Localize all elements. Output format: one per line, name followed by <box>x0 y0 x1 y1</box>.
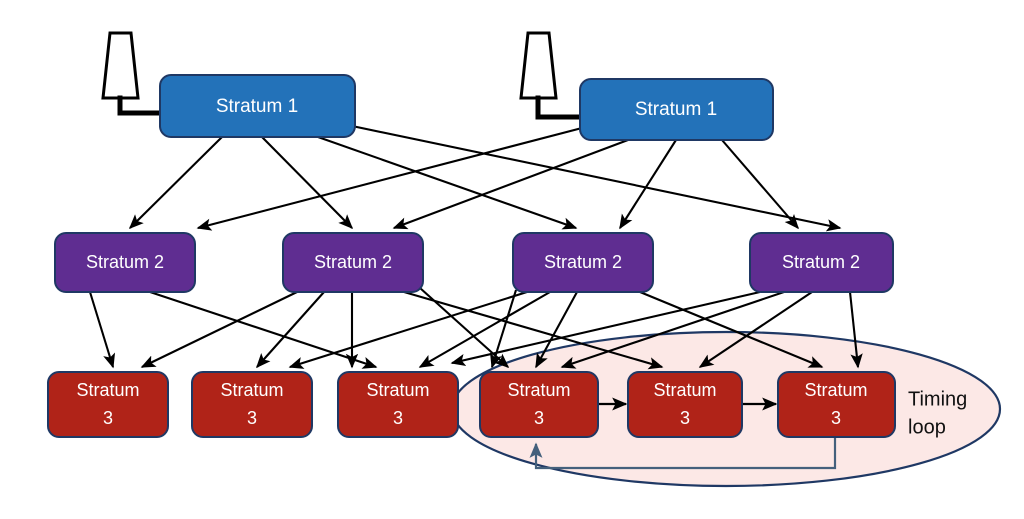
edge-s2b-s3a <box>142 292 297 367</box>
antenna-group-b <box>521 33 582 117</box>
node-stratum2-b[interactable]: Stratum 2 <box>283 233 423 292</box>
node-box[interactable] <box>750 233 893 292</box>
node-stratum3-a[interactable]: Stratum 3 <box>48 372 168 437</box>
node-box[interactable] <box>480 372 598 437</box>
antenna-feed-line <box>120 98 162 113</box>
edge-s2b-s3b <box>257 292 324 367</box>
node-box[interactable] <box>192 372 312 437</box>
node-box[interactable] <box>160 75 355 137</box>
edge-s1b-s2d <box>722 140 798 228</box>
node-stratum2-d[interactable]: Stratum 2 <box>750 233 893 292</box>
antenna-feed-line <box>538 98 582 117</box>
node-box[interactable] <box>628 372 742 437</box>
node-stratum3-d[interactable]: Stratum 3 <box>480 372 598 437</box>
edge-s2a-s3a <box>90 292 113 367</box>
edge-s2a-s3c <box>150 292 376 367</box>
antenna-icon <box>103 33 138 98</box>
edges-stratum1-to-stratum2 <box>130 126 840 228</box>
node-stratum3-f[interactable]: Stratum 3 <box>778 372 895 437</box>
node-box[interactable] <box>338 372 458 437</box>
edge-s1a-s2a <box>130 137 222 228</box>
edge-s1b-s2b <box>394 140 628 228</box>
node-box[interactable] <box>580 79 773 140</box>
timing-loop-label-line2: loop <box>908 416 946 438</box>
edge-s1a-s2d <box>352 126 840 228</box>
node-box[interactable] <box>55 233 195 292</box>
antenna-icon <box>521 33 556 98</box>
stratum-hierarchy-diagram: Stratum 1 Stratum 1 Stratum 2 Stratum 2 … <box>0 0 1024 519</box>
node-stratum2-a[interactable]: Stratum 2 <box>55 233 195 292</box>
edge-s1a-s2b <box>262 137 352 228</box>
diagram-canvas: Stratum 1 Stratum 1 Stratum 2 Stratum 2 … <box>0 0 1024 519</box>
node-stratum3-b[interactable]: Stratum 3 <box>192 372 312 437</box>
edge-s2c-s3b <box>290 292 527 367</box>
node-box[interactable] <box>778 372 895 437</box>
node-stratum1-a[interactable]: Stratum 1 <box>160 75 355 137</box>
node-stratum3-c[interactable]: Stratum 3 <box>338 372 458 437</box>
node-box[interactable] <box>513 233 653 292</box>
node-box[interactable] <box>48 372 168 437</box>
node-stratum2-c[interactable]: Stratum 2 <box>513 233 653 292</box>
node-box[interactable] <box>283 233 423 292</box>
edge-s1a-s2c <box>318 137 576 228</box>
antenna-group-a <box>103 33 162 113</box>
node-stratum1-b[interactable]: Stratum 1 <box>580 79 773 140</box>
timing-loop-label-line1: Timing <box>908 388 967 410</box>
node-stratum3-e[interactable]: Stratum 3 <box>628 372 742 437</box>
